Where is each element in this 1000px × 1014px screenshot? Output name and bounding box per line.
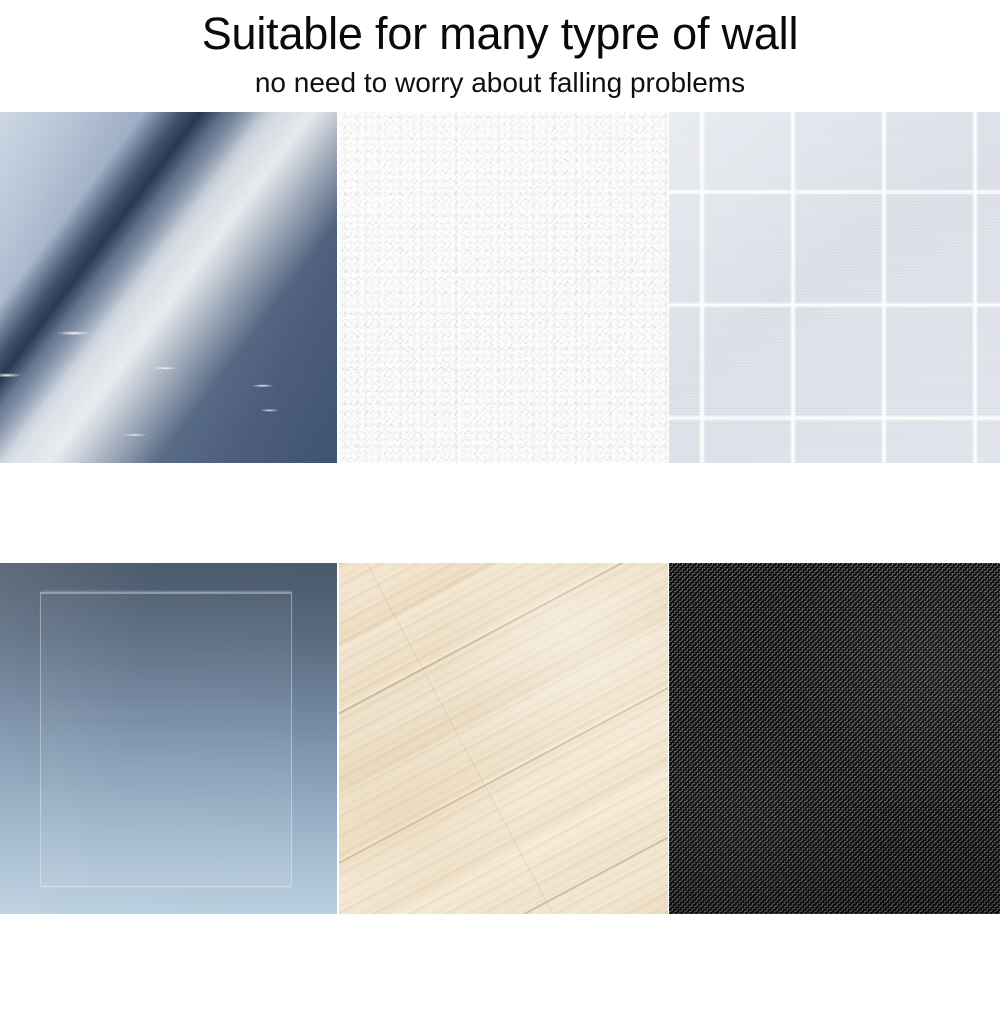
surface-cell-leather-surface[interactable]: Leather surface (669, 563, 1000, 914)
surface-cell-floor[interactable]: Floor (339, 563, 668, 914)
surface-type-grid: Car paint Putty wall Porcelain diamond G… (0, 112, 1000, 1014)
putty-wall-swatch (339, 112, 668, 463)
black-leather-swatch (669, 563, 1000, 914)
glass-sheen-overlay (0, 563, 337, 914)
wood-floor-swatch (339, 563, 668, 914)
surface-cell-porcelain-diamond[interactable]: Porcelain diamond (669, 112, 1000, 463)
car-paint-swatch (0, 112, 337, 463)
surface-cell-car-paint[interactable]: Car paint (0, 112, 337, 463)
surface-cell-glass[interactable]: Glass (0, 563, 337, 914)
header-block: Suitable for many typre of wall no need … (0, 0, 1000, 100)
surface-row-2: Glass Floor Leather surface (0, 563, 1000, 1014)
surface-cell-putty-wall[interactable]: Putty wall (339, 112, 668, 463)
page-subtitle: no need to worry about falling problems (0, 60, 1000, 100)
page-title: Suitable for many typre of wall (0, 4, 1000, 60)
glass-swatch (0, 563, 337, 914)
porcelain-tile-swatch (669, 112, 1000, 463)
surface-row-1: Car paint Putty wall Porcelain diamond (0, 112, 1000, 563)
